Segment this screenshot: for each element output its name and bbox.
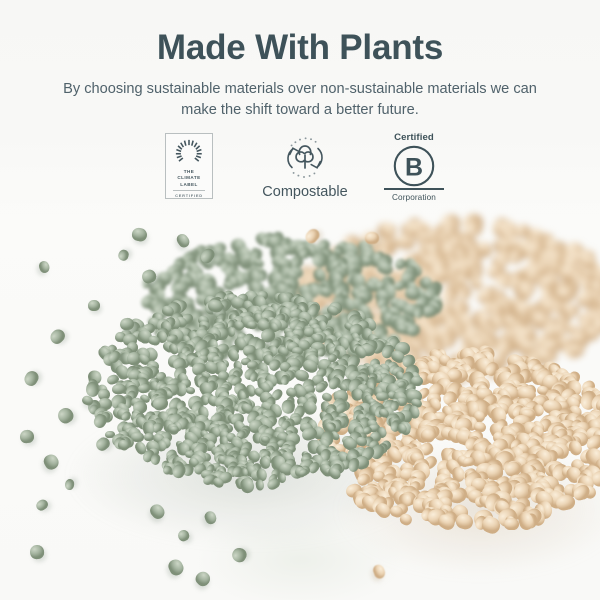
climate-divider [173,190,205,191]
bcorp-corporation-text: Corporation [379,193,449,202]
svg-text:B: B [405,153,423,181]
pellet [365,232,379,244]
pellet [281,374,290,385]
pellet [42,452,61,472]
pellet [111,383,126,395]
climate-line-3: LABEL [166,182,212,188]
pellet [193,569,213,589]
bcorp-badge: Certified B Corporation [379,133,449,211]
bcorp-certified-text: Certified [379,133,449,143]
climate-label-badge: THE CLIMATE LABEL CERTIFIED [165,133,217,211]
pellet [117,248,130,262]
pellet [131,227,148,243]
pellet [88,300,100,311]
sunburst-icon [166,138,212,168]
pellet [34,498,50,513]
pellet [22,369,41,388]
header-block: Made With Plants By choosing sustainable… [0,0,600,215]
pellet [170,425,180,433]
compostable-badge: Compostable [248,133,362,211]
pellet [504,518,519,531]
bcorp-divider [384,188,444,190]
compostable-label: Compostable [248,184,362,200]
pellet [174,232,191,250]
page-subtitle: By choosing sustainable materials over n… [60,79,540,120]
pellet [186,387,196,396]
page-title: Made With Plants [0,29,600,68]
pellet [38,260,51,275]
pellet [166,557,186,577]
clover-recycle-icon [248,133,362,183]
pellet [48,327,68,347]
climate-certified-text: CERTIFIED [166,193,212,198]
circled-b-icon: B [379,144,449,188]
pellet [19,429,35,444]
pellet [29,544,45,559]
made-with-plants-banner: Made With Plants By choosing sustainable… [0,0,600,600]
certification-badges: THE CLIMATE LABEL CERTIFIED [0,133,600,211]
